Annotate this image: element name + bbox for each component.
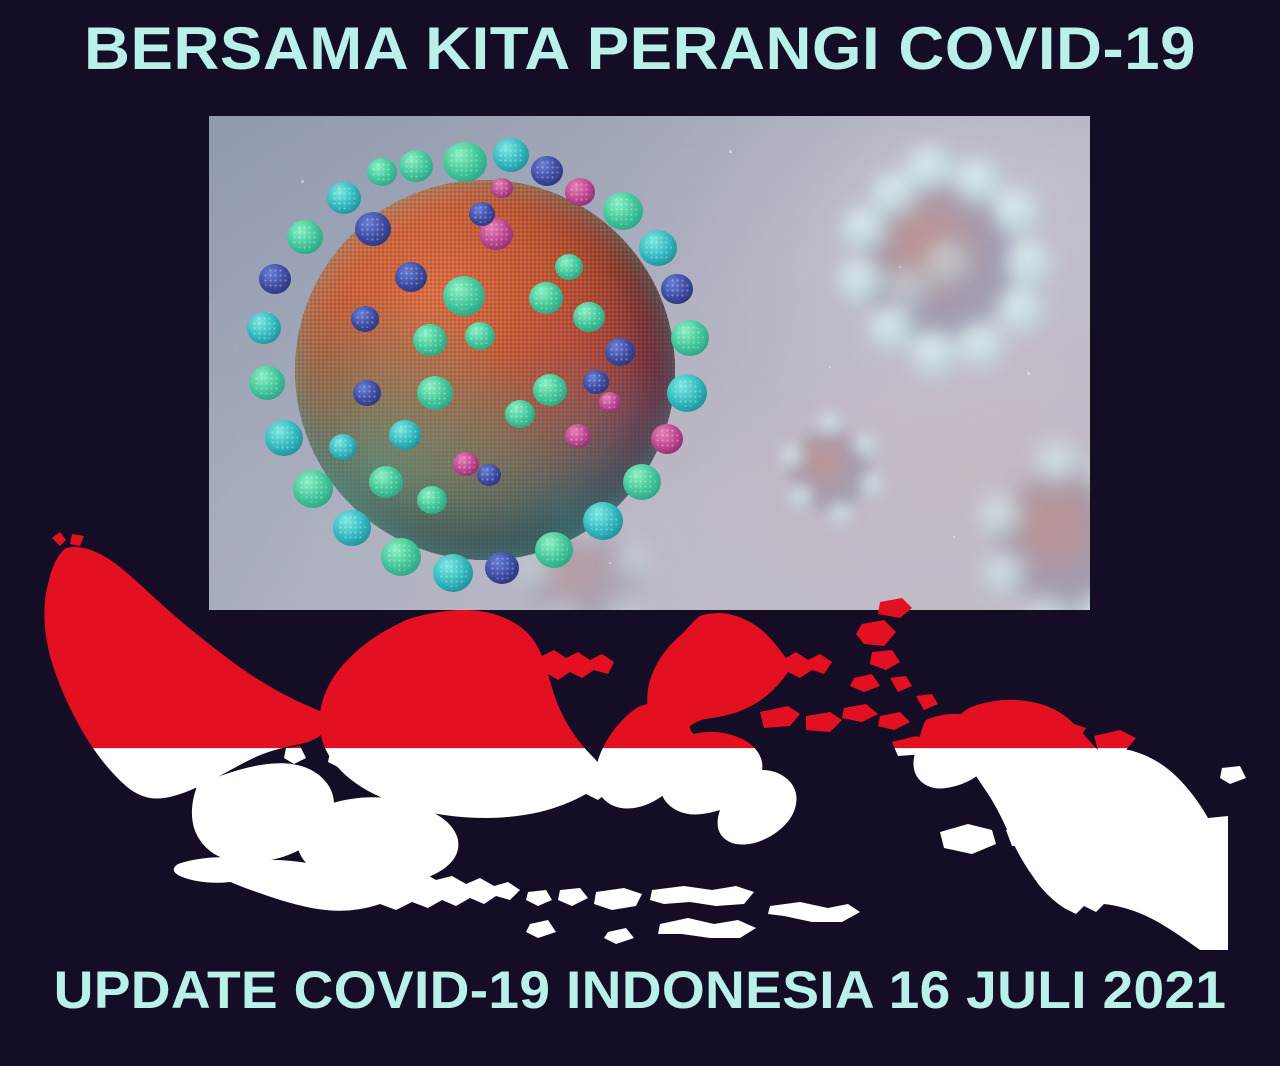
- spike-protein: [667, 374, 707, 412]
- spike-protein: [491, 178, 513, 198]
- dust-speck: [729, 150, 732, 153]
- spike-protein: [639, 230, 677, 266]
- spike-protein: [453, 452, 479, 476]
- spike-protein: [477, 464, 501, 486]
- spike-protein: [605, 338, 635, 366]
- poster-root: BERSAMA KITA PERANGI COVID-19: [0, 0, 1280, 1066]
- spike-protein: [327, 182, 361, 214]
- dust-speck: [829, 366, 831, 368]
- indonesia-map: [0, 520, 1280, 960]
- background-virion-1: [829, 154, 1044, 369]
- spike-protein: [493, 138, 529, 172]
- spike-protein: [603, 192, 643, 230]
- spike-protein: [533, 374, 567, 406]
- spike-protein: [661, 274, 693, 304]
- spike-protein: [651, 424, 683, 454]
- spike-protein: [623, 464, 661, 500]
- spike-protein: [247, 312, 281, 344]
- spike-protein: [417, 376, 453, 410]
- spike-protein: [293, 470, 333, 508]
- spike-protein: [443, 142, 487, 182]
- spike-protein: [531, 156, 563, 186]
- spike-protein: [505, 400, 535, 428]
- background-virion-2: [774, 416, 884, 526]
- spike-protein: [369, 466, 403, 498]
- indonesia-silhouette: [0, 520, 1280, 960]
- spike-protein: [583, 370, 609, 394]
- spike-protein: [465, 322, 495, 350]
- spike-protein: [555, 254, 583, 280]
- dust-speck: [899, 266, 901, 268]
- spike-protein: [329, 434, 357, 460]
- spike-protein: [443, 276, 485, 316]
- spike-protein: [529, 282, 563, 314]
- spike-protein: [265, 420, 303, 456]
- spike-protein: [389, 420, 421, 450]
- spike-protein: [395, 262, 427, 292]
- spike-protein: [353, 380, 381, 406]
- spike-protein: [351, 306, 379, 332]
- dust-speck: [1027, 372, 1030, 375]
- spike-protein: [671, 320, 709, 356]
- spike-protein: [399, 150, 433, 182]
- spike-protein: [287, 220, 323, 254]
- spike-protein: [259, 264, 291, 294]
- spike-protein: [249, 366, 285, 400]
- spike-protein: [565, 424, 591, 448]
- spike-protein: [367, 158, 397, 186]
- spike-protein: [599, 392, 621, 412]
- spike-protein: [573, 302, 605, 332]
- spike-protein: [413, 324, 447, 356]
- spike-protein: [565, 178, 595, 206]
- page-title: BERSAMA KITA PERANGI COVID-19: [0, 18, 1280, 80]
- page-subtitle: UPDATE COVID-19 INDONESIA 16 JULI 2021: [0, 963, 1280, 1018]
- spike-protein: [355, 212, 391, 246]
- spike-protein: [469, 202, 495, 226]
- spike-protein: [417, 486, 447, 514]
